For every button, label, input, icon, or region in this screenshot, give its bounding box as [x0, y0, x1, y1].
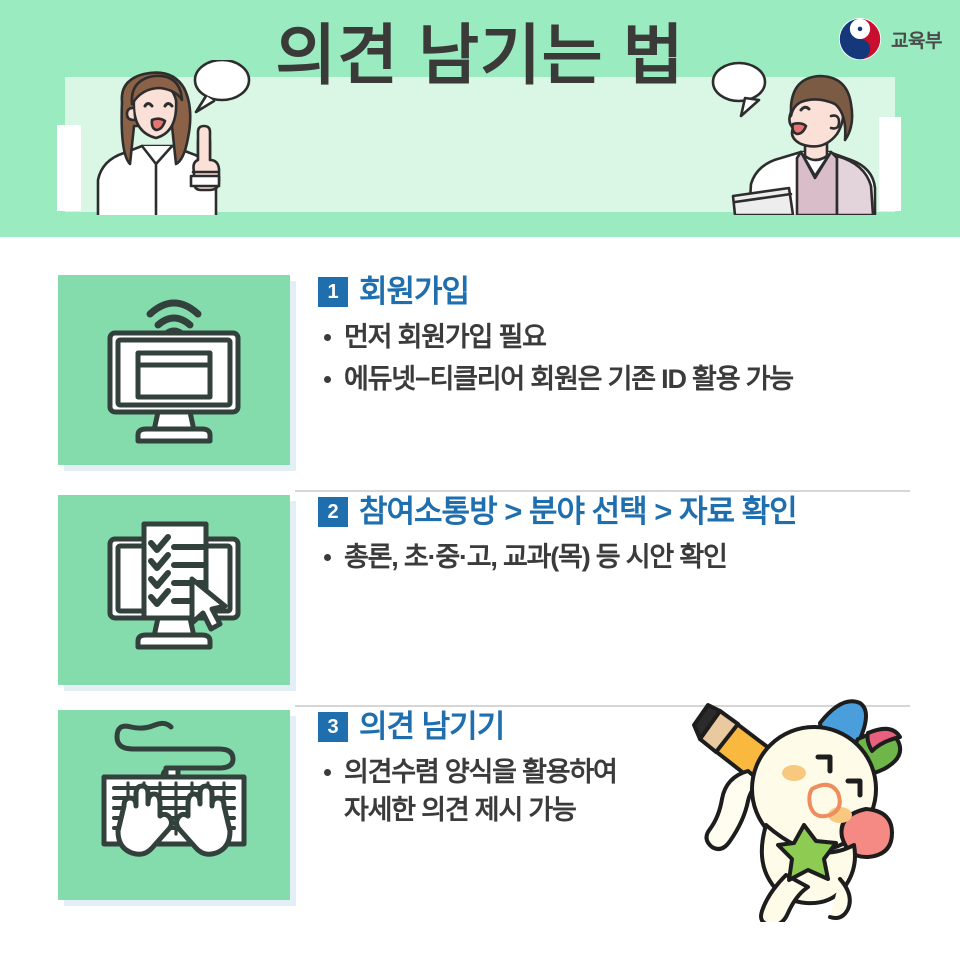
step-item: 2 참여소통방 > 분야 선택 > 자료 확인 총론, 초·중·고, 교과(목)… — [0, 495, 960, 710]
list-item: 에듀넷−티클리어 회원은 기존 ID 활용 가능 — [318, 360, 918, 398]
mascot-with-pencil-icon — [690, 697, 915, 922]
step-icon-tile — [58, 275, 290, 465]
step-title: 회원가입 — [359, 275, 469, 309]
monitor-checklist-cursor-icon — [58, 495, 290, 685]
bullet-text: 의견수렴 양식을 활용하여 — [344, 757, 617, 787]
step-number-badge: 2 — [318, 497, 348, 527]
list-item: 총론, 초·중·고, 교과(목) 등 시안 확인 — [318, 538, 918, 576]
step-bullet-list: 총론, 초·중·고, 교과(목) 등 시안 확인 — [318, 538, 918, 576]
hands-keyboard-icon — [58, 710, 290, 900]
header-band: 교육부 — [0, 0, 960, 237]
step-title: 참여소통방 > 분야 선택 > 자료 확인 — [359, 495, 797, 529]
bullet-text: 총론, 초·중·고, 교과(목) 등 시안 확인 — [344, 542, 727, 572]
step-icon-tile — [58, 495, 290, 685]
step-item: 1 회원가입 먼저 회원가입 필요 에듀넷−티클리어 회원은 기존 ID 활용 … — [0, 275, 960, 495]
step-content: 1 회원가입 먼저 회원가입 필요 에듀넷−티클리어 회원은 기존 ID 활용 … — [318, 275, 918, 399]
bullet-text: 먼저 회원가입 필요 — [344, 322, 546, 352]
step-header: 1 회원가입 — [318, 275, 918, 309]
step-title: 의견 남기기 — [359, 710, 504, 744]
step-number-badge: 1 — [318, 277, 348, 307]
bullet-text: 에듀넷−티클리어 회원은 기존 ID 활용 가능 — [344, 364, 793, 394]
step-bullet-list: 먼저 회원가입 필요 에듀넷−티클리어 회원은 기존 ID 활용 가능 — [318, 318, 918, 399]
steps-section: 1 회원가입 먼저 회원가입 필요 에듀넷−티클리어 회원은 기존 ID 활용 … — [0, 237, 960, 960]
page-title: 의견 남기는 법 — [0, 22, 960, 88]
step-header: 2 참여소통방 > 분야 선택 > 자료 확인 — [318, 495, 918, 529]
step-icon-tile — [58, 710, 290, 900]
monitor-wifi-icon — [58, 275, 290, 465]
step-number-badge: 3 — [318, 712, 348, 742]
step-content: 2 참여소통방 > 분야 선택 > 자료 확인 총론, 초·중·고, 교과(목)… — [318, 495, 918, 576]
list-item: 먼저 회원가입 필요 — [318, 318, 918, 356]
